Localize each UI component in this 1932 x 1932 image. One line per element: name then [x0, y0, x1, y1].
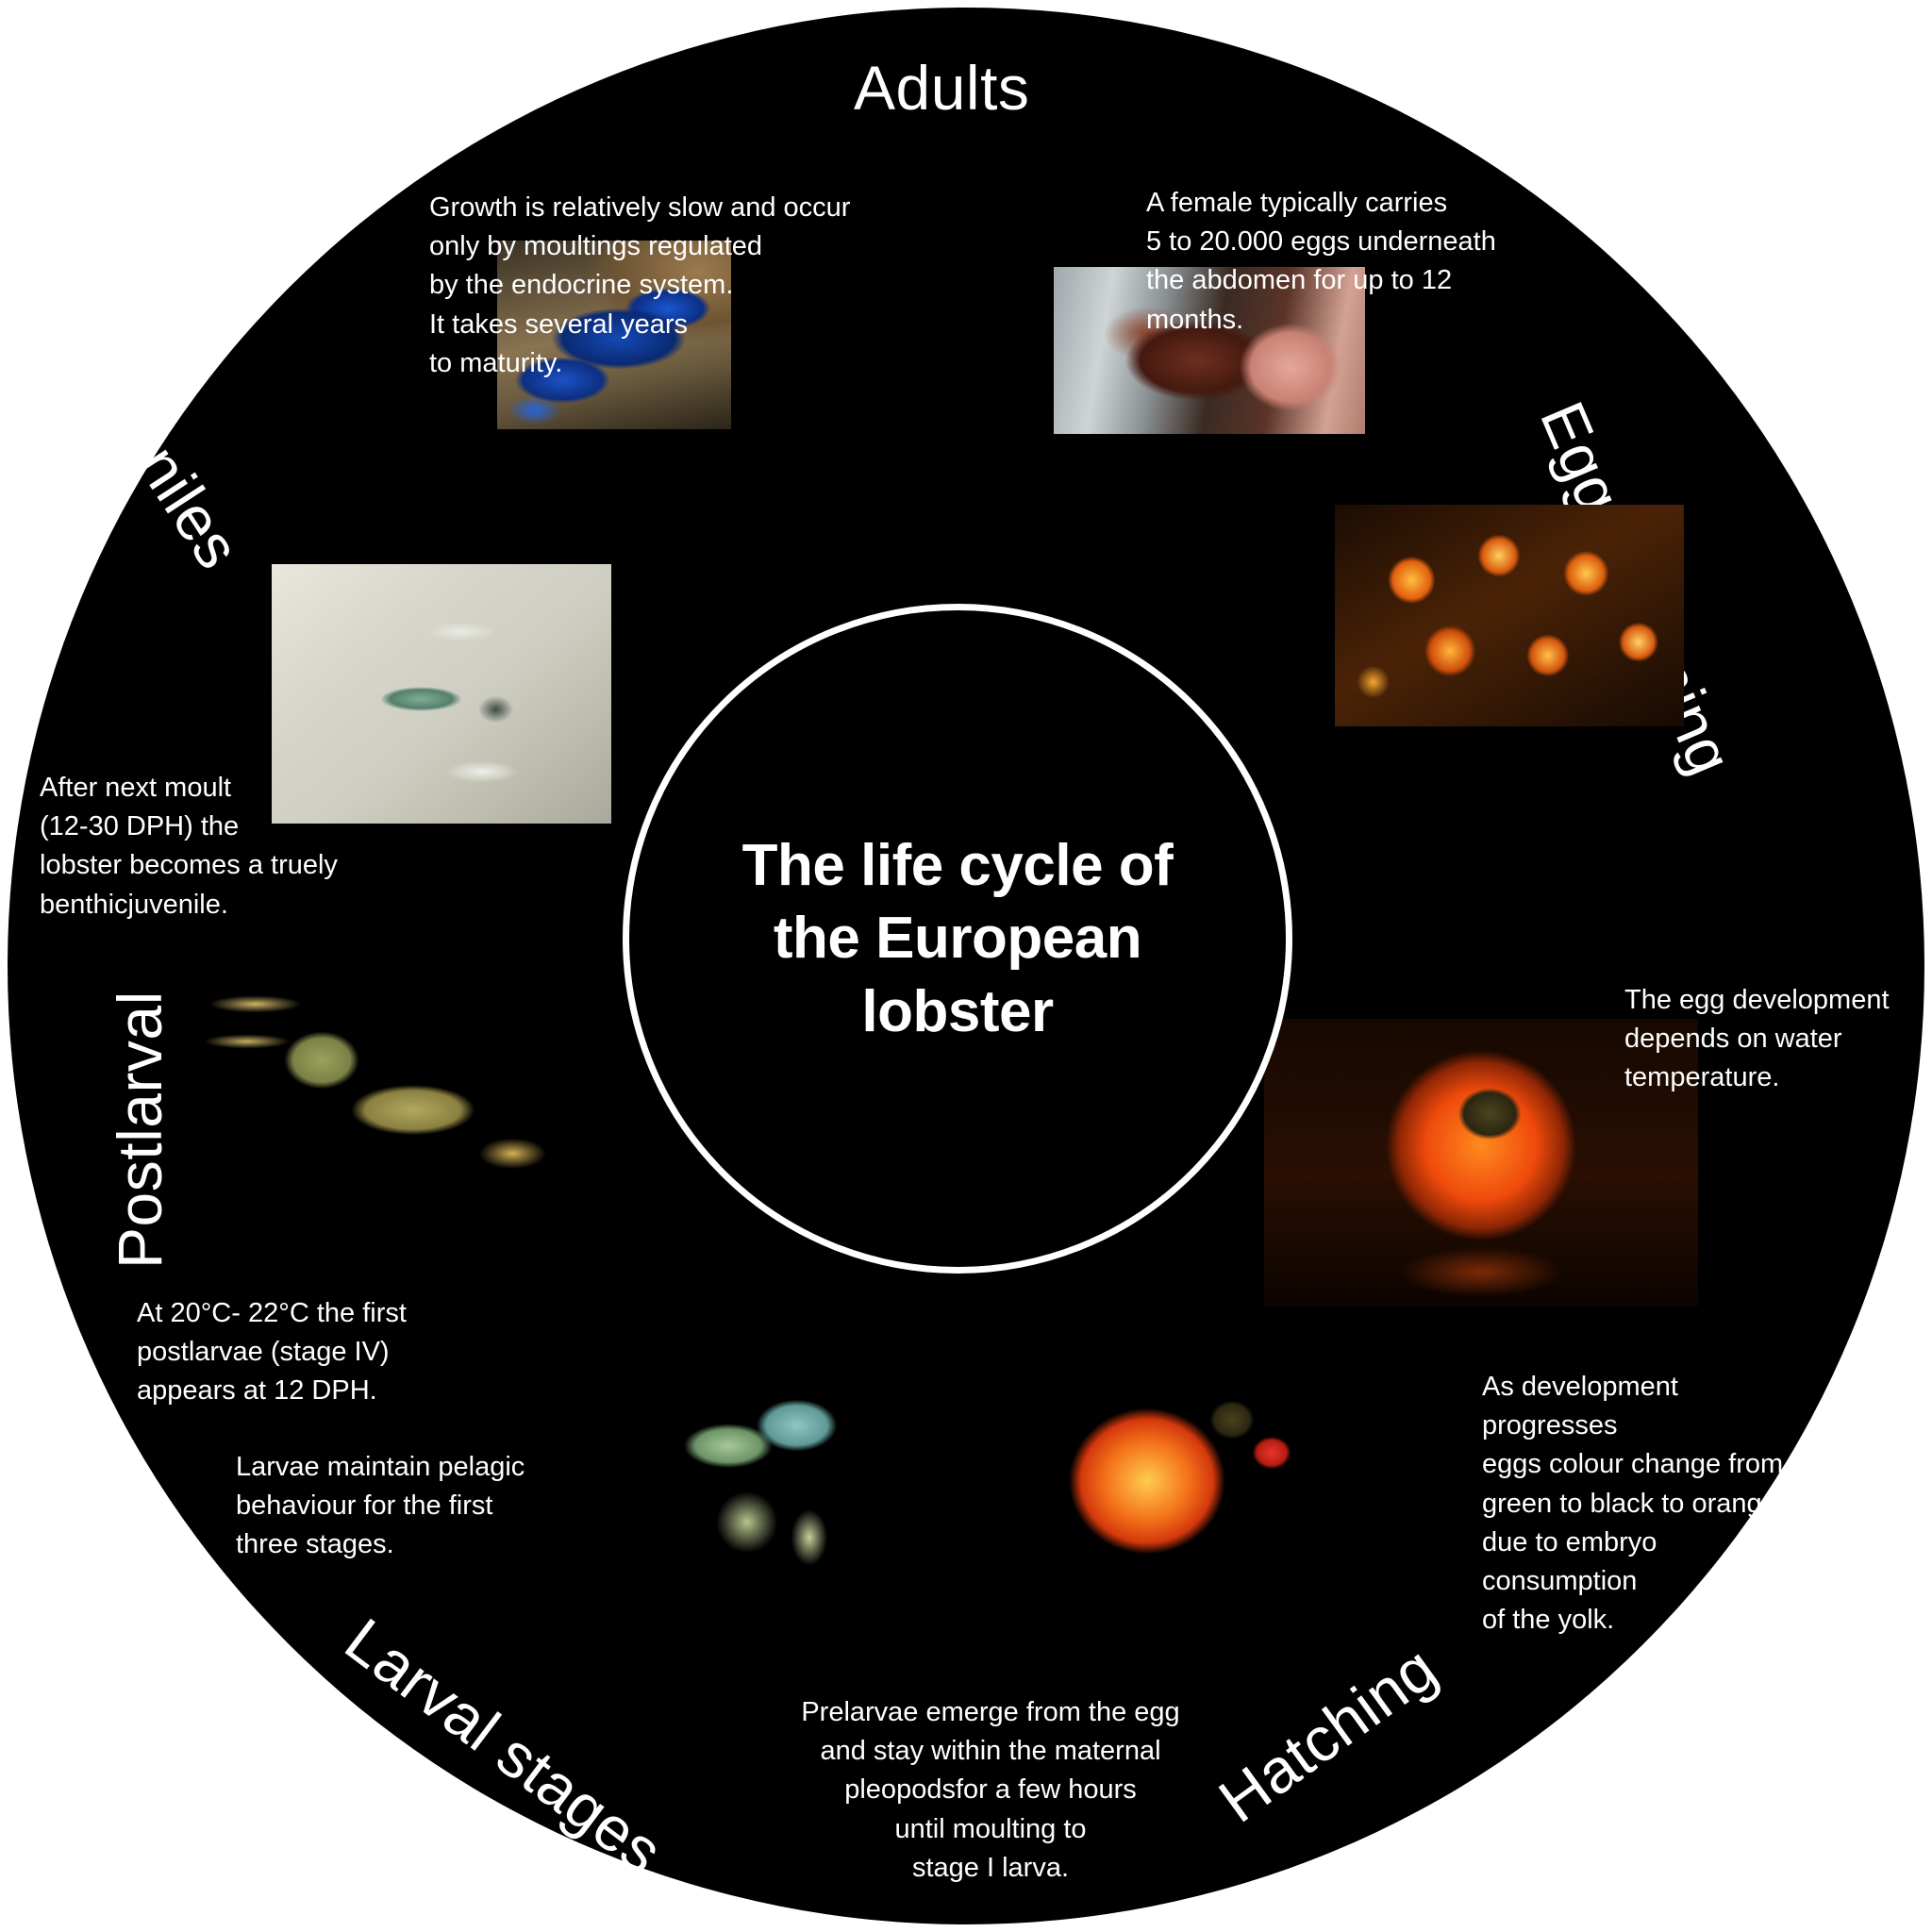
caption-postlarvae: At 20°C- 22°C the first postlarvae (stag…: [137, 1294, 448, 1411]
caption-egg-development: The egg development depends on water tem…: [1624, 981, 1907, 1098]
caption-hatching: Prelarvae emerge from the egg and stay w…: [792, 1693, 1189, 1888]
page-title: The life cycle of the European lobster: [693, 829, 1222, 1049]
caption-adults-growth: Growth is relatively slow and occur only…: [429, 189, 863, 383]
caption-egg-colour-change: As development progresses eggs colour ch…: [1482, 1368, 1812, 1640]
caption-juveniles: After next moult (12-30 DPH) the lobster…: [40, 769, 341, 924]
caption-larvae-pelagic: Larvae maintain pelagic behaviour for th…: [236, 1448, 557, 1565]
photo-egg-mass: [1335, 505, 1684, 726]
stage-label-adults: Adults: [854, 52, 1029, 124]
photo-larval-lobster: [604, 1349, 915, 1604]
photo-postlarval-lobster: [156, 948, 571, 1259]
photo-prelarva: [1028, 1358, 1311, 1594]
center-ring: The life cycle of the European lobster: [623, 604, 1292, 1274]
caption-adults-female: A female typically carries 5 to 20.000 e…: [1146, 184, 1552, 340]
